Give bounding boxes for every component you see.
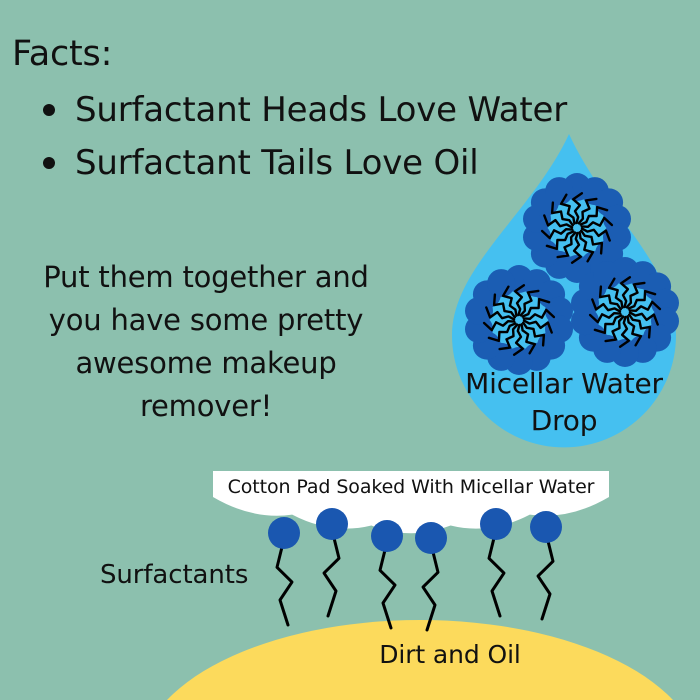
bullet-icon (43, 104, 55, 116)
surfactants-label: Surfactants (100, 560, 248, 590)
facts-list: Surfactant Heads Love Water Surfactant T… (38, 84, 638, 189)
list-item: Surfactant Tails Love Oil (38, 137, 638, 190)
list-item: Surfactant Heads Love Water (38, 84, 638, 137)
surfactant-tails-group (277, 538, 553, 630)
dirt-and-oil-label: Dirt and Oil (280, 640, 620, 669)
infographic-canvas: Facts: Surfactant Heads Love Water Surfa… (0, 0, 700, 700)
bullet-icon (43, 157, 55, 169)
facts-heading: Facts: (12, 36, 112, 74)
drop-label-line2: Drop (452, 403, 676, 440)
list-item-label: Surfactant Heads Love Water (75, 90, 567, 130)
drop-label-line1: Micellar Water (452, 366, 676, 403)
micellar-water-drop-label: Micellar Water Drop (452, 366, 676, 440)
cotton-pad-label: Cotton Pad Soaked With Micellar Water (216, 476, 606, 498)
summary-paragraph: Put them together and you have some pret… (24, 256, 388, 428)
list-item-label: Surfactant Tails Love Oil (75, 143, 479, 183)
